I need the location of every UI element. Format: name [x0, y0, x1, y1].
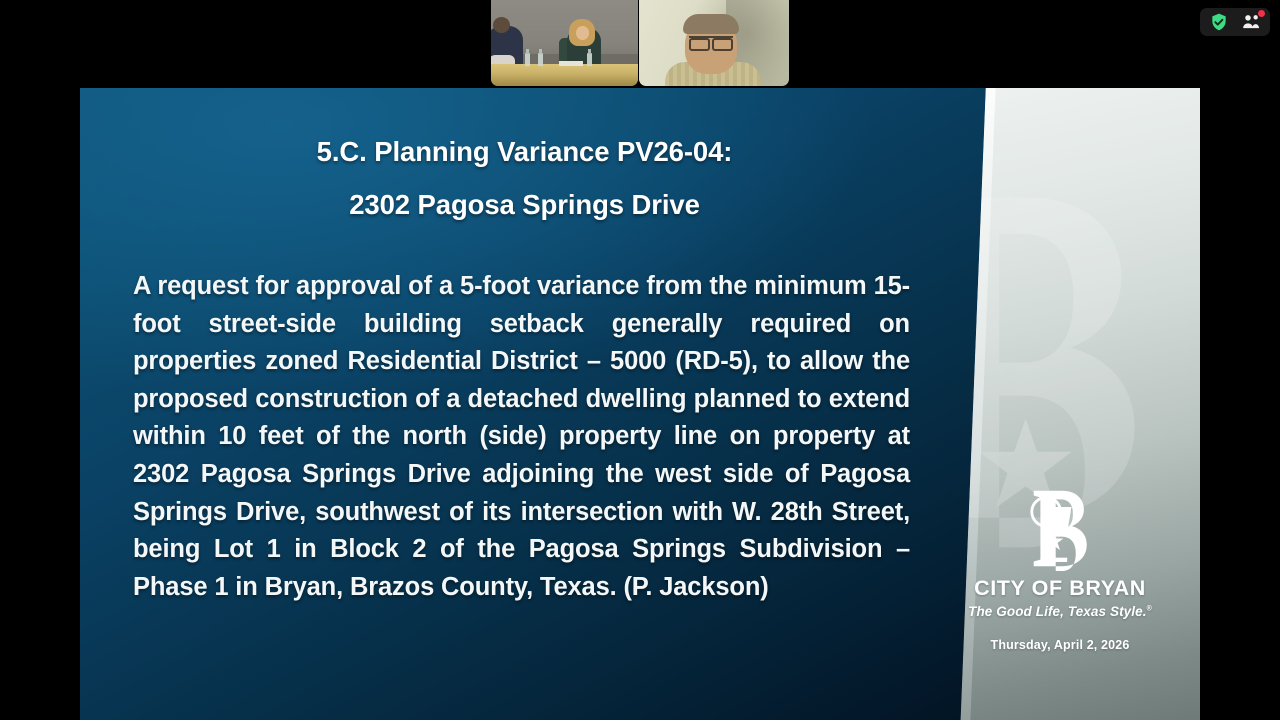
meeting-video-frame: CITY OF BRYAN The Good Life, Texas Style…: [0, 0, 1280, 720]
presentation-slide: CITY OF BRYAN The Good Life, Texas Style…: [80, 88, 1200, 720]
slide-content: 5.C. Planning Variance PV26-04: 2302 Pag…: [80, 88, 960, 720]
glasses-icon: [689, 36, 733, 46]
water-bottle: [525, 53, 530, 66]
slide-date: Thursday, April 2, 2026: [991, 638, 1130, 652]
chamber-table: [491, 64, 638, 86]
water-bottle: [587, 53, 592, 66]
attendee-right-face: [576, 26, 589, 40]
speaker-hair: [683, 14, 739, 34]
speaker-webcam-tile[interactable]: [639, 0, 790, 86]
notification-badge: [1257, 9, 1266, 18]
paper-document: [559, 61, 583, 66]
city-tagline: The Good Life, Texas Style.®: [968, 604, 1152, 619]
registered-mark: ®: [1147, 606, 1152, 613]
city-wordmark: CITY OF BRYAN: [974, 576, 1146, 601]
encryption-shield-icon[interactable]: [1207, 11, 1231, 33]
video-tile-strip: [491, 0, 789, 86]
city-logo-lockup: CITY OF BRYAN The Good Life, Texas Style…: [920, 486, 1200, 652]
water-bottle: [538, 53, 543, 66]
branding-panel: CITY OF BRYAN The Good Life, Texas Style…: [920, 88, 1200, 720]
tagline-text: The Good Life, Texas Style.: [968, 604, 1147, 619]
slide-title-line-1: 5.C. Planning Variance PV26-04:: [133, 138, 916, 166]
council-chamber-tile[interactable]: [491, 0, 638, 86]
slide-body-text: A request for approval of a 5-foot varia…: [133, 268, 916, 606]
participants-icon[interactable]: [1239, 11, 1263, 33]
slide-title-line-2: 2302 Pagosa Springs Drive: [133, 191, 916, 219]
city-of-bryan-b-logo-icon: [1023, 486, 1097, 572]
meeting-status-cluster: [1200, 8, 1270, 36]
